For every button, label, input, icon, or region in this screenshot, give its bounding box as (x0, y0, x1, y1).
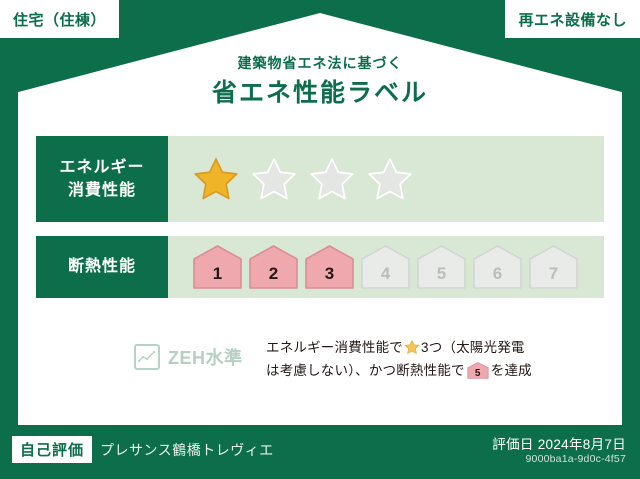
energy-performance-value (168, 136, 604, 222)
energy-label-line2: 消費性能 (68, 179, 136, 202)
zeh-label: ZEH水準 (168, 344, 243, 370)
insulation-level-number: 2 (248, 264, 299, 284)
insulation-level-6: 6 (472, 244, 523, 290)
building-type-tag: 住宅（住棟） (0, 0, 119, 38)
star-filled-icon (192, 156, 240, 202)
insulation-level-number: 5 (416, 264, 467, 284)
insulation-performance-row: 断熱性能 1234567 (36, 236, 604, 298)
label-footer: 自己評価 プレサンス鶴橋トレヴィエ 評価日 2024年8月7日 9000ba1a… (0, 425, 640, 479)
star-rating (192, 156, 414, 202)
renewable-energy-tag: 再エネ設備なし (505, 0, 640, 38)
insulation-level-number: 7 (528, 264, 579, 284)
insulation-level-number: 1 (192, 264, 243, 284)
title-subtitle: 建築物省エネ法に基づく (0, 55, 640, 72)
insulation-level-number: 4 (360, 264, 411, 284)
insulation-level-7: 7 (528, 244, 579, 290)
insulation-performance-label: 断熱性能 (36, 236, 168, 298)
energy-label-line1: エネルギー (59, 156, 144, 179)
insulation-label-text: 断熱性能 (68, 255, 136, 278)
insulation-performance-value: 1234567 (168, 236, 604, 298)
insulation-level-2: 2 (248, 244, 299, 290)
property-name: プレサンス鶴橋トレヴィエ (100, 440, 274, 460)
desc-part2: は考慮しない）、かつ断熱性能で (266, 363, 465, 378)
inline-star-icon (404, 339, 420, 355)
building-type-label: 住宅（住棟） (13, 9, 106, 30)
evaluation-date: 評価日 2024年8月7日 (492, 433, 626, 453)
inline-insulation-house-icon: 5 (467, 362, 489, 379)
zeh-section: ZEH水準 エネルギー消費性能で 3つ（太陽光発電 は考慮しない）、かつ断熱性能… (36, 336, 604, 382)
insulation-level-3: 3 (304, 244, 355, 290)
energy-performance-row: エネルギー 消費性能 (36, 136, 604, 222)
insulation-level-number: 3 (304, 264, 355, 284)
zeh-chart-icon (134, 344, 160, 370)
evaluation-type-badge: 自己評価 (12, 436, 92, 463)
energy-performance-label: エネルギー 消費性能 (36, 136, 168, 222)
insulation-level-scale: 1234567 (192, 244, 579, 290)
insulation-level-1: 1 (192, 244, 243, 290)
zeh-badge: ZEH水準 (36, 336, 252, 370)
insulation-level-5: 5 (416, 244, 467, 290)
renewable-energy-label: 再エネ設備なし (518, 9, 627, 30)
star-empty-icon (308, 156, 356, 202)
zeh-description: エネルギー消費性能で 3つ（太陽光発電 は考慮しない）、かつ断熱性能で 5を達成 (266, 336, 532, 382)
page-title: 省エネ性能ラベル (0, 78, 640, 108)
energy-label-card: 住宅（住棟） 再エネ設備なし 建築物省エネ法に基づく 省エネ性能ラベル エネルギ… (0, 0, 640, 479)
desc-part3: を達成 (491, 363, 532, 378)
label-title-block: 建築物省エネ法に基づく 省エネ性能ラベル (0, 55, 640, 108)
inline-house-level: 5 (467, 369, 489, 379)
insulation-level-number: 6 (472, 264, 523, 284)
star-empty-icon (250, 156, 298, 202)
desc-star-count: 3つ（太陽光発電 (421, 340, 525, 355)
evaluation-id: 9000ba1a-9d0c-4f57 (525, 453, 626, 465)
star-empty-icon (366, 156, 414, 202)
desc-part1: エネルギー消費性能で (266, 340, 403, 355)
insulation-level-4: 4 (360, 244, 411, 290)
